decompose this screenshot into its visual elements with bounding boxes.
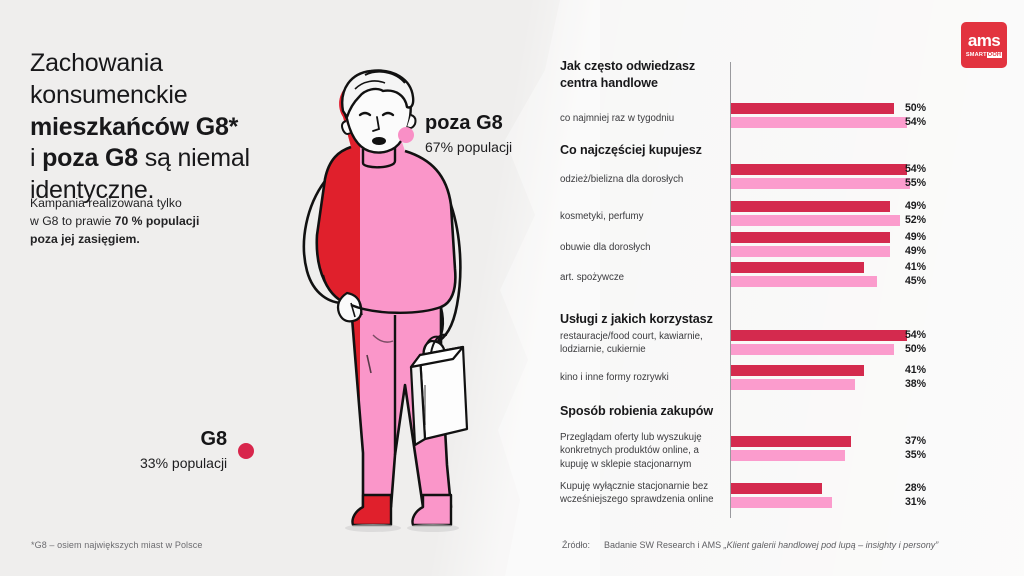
ams-logo[interactable]: ams SMARTOOH [961, 22, 1007, 68]
legend-g8-sub: 33% populacji [140, 453, 227, 474]
chart-value-poza-g8: 55% [905, 177, 926, 189]
chart-bar-poza-g8 [731, 178, 910, 189]
chart-bar-poza-g8 [731, 246, 890, 257]
chart-bar-g8 [731, 330, 907, 341]
chart-value-poza-g8: 50% [905, 343, 926, 355]
chart-row-label: co najmniej raz w tygodniu [560, 112, 726, 125]
chart-bar-g8 [731, 201, 890, 212]
chart-group-heading: Usługi z jakich korzystasz [560, 311, 728, 328]
source-note: Źródło:Badanie SW Research i AMS „Klient… [562, 540, 938, 550]
ams-logo-tagline: SMARTOOH [966, 52, 1002, 58]
chart-bar-poza-g8 [731, 344, 894, 355]
chart-value-poza-g8: 45% [905, 275, 926, 287]
subcopy: Kampania realizowana tylko w G8 to prawi… [30, 194, 250, 248]
chart-value-poza-g8: 35% [905, 449, 926, 461]
headline-line-4-prefix: i [30, 144, 42, 172]
chart-bar-poza-g8 [731, 215, 900, 226]
chart-bar-poza-g8 [731, 276, 877, 287]
headline-line-3: mieszkańców G8* [30, 113, 238, 141]
chart-value-g8: 41% [905, 364, 926, 376]
ams-logo-wordmark: ams [968, 32, 1000, 49]
chart-value-g8: 37% [905, 435, 926, 447]
chart-group-heading: Sposób robienia zakupów [560, 403, 728, 420]
chart-value-poza-g8: 52% [905, 214, 926, 226]
chart-group-heading: Co najczęściej kupujesz [560, 142, 728, 159]
chart-value-poza-g8: 38% [905, 378, 926, 390]
chart-value-g8: 28% [905, 482, 926, 494]
chart-bar-poza-g8 [731, 497, 832, 508]
chart-row-label: Kupuję wyłącznie stacjonarnie bez wcześn… [560, 480, 726, 507]
chart-bar-g8 [731, 164, 907, 175]
source-label: Źródło: [562, 540, 590, 550]
chart-bar-poza-g8 [731, 117, 907, 128]
chart-value-g8: 49% [905, 231, 926, 243]
legend-g8-title: G8 [200, 428, 227, 451]
source-title: „Klient galerii handlowej pod lupą – ins… [724, 540, 939, 550]
chart-bar-g8 [731, 365, 864, 376]
subcopy-line-2-prefix: w G8 to prawie [30, 214, 115, 228]
footnote-g8: *G8 – osiem największych miast w Polsce [31, 540, 202, 550]
chart-row-label: kino i inne formy rozrywki [560, 371, 726, 384]
logo-ooh-text: OOH [987, 52, 1002, 58]
headline-line-1: Zachowania [30, 49, 163, 77]
infographic-root: Zachowania konsumenckie mieszkańców G8* … [0, 0, 1024, 576]
chart-bar-g8 [731, 262, 864, 273]
chart-value-g8: 54% [905, 329, 926, 341]
chart-bar-g8 [731, 103, 894, 114]
legend-dot-g8 [238, 443, 254, 459]
chart-group-heading: Jak często odwiedzasz centra handlowe [560, 58, 728, 92]
chart-value-poza-g8: 54% [905, 116, 926, 128]
chart-value-g8: 50% [905, 102, 926, 114]
headline-line-4-emphasis: poza G8 [42, 144, 138, 172]
chart-value-g8: 49% [905, 200, 926, 212]
chart-bar-g8 [731, 232, 890, 243]
subcopy-line-1: Kampania realizowana tylko [30, 196, 182, 210]
chart-value-poza-g8: 49% [905, 245, 926, 257]
chart-bar-poza-g8 [731, 379, 855, 390]
chart-row-label: art. spożywcze [560, 271, 726, 284]
chart-value-poza-g8: 31% [905, 496, 926, 508]
chart-bar-g8 [731, 436, 851, 447]
bar-chart: Jak często odwiedzasz centra handloweco … [560, 55, 980, 525]
chart-value-g8: 54% [905, 163, 926, 175]
legend-dot-poza-g8 [398, 127, 414, 143]
logo-smart-text: SMART [966, 52, 987, 58]
chart-row-label: Przeglądam oferty lub wyszukuję konkretn… [560, 431, 726, 471]
chart-row-label: odzież/bielizna dla dorosłych [560, 173, 726, 186]
subcopy-emphasis-2: poza jej zasięgiem. [30, 232, 140, 246]
headline-line-4-suffix: są niemal [138, 144, 250, 172]
chart-row-label: obuwie dla dorosłych [560, 241, 726, 254]
subcopy-emphasis-1: 70 % populacji [115, 214, 200, 228]
source-text: Badanie SW Research i AMS [604, 540, 724, 550]
chart-row-label: restauracje/food court, kawiarnie, lodzi… [560, 330, 726, 357]
chart-row-label: kosmetyki, perfumy [560, 210, 726, 223]
headline-line-2: konsumenckie [30, 81, 187, 109]
legend-poza-g8-sub: 67% populacji [425, 137, 512, 158]
legend-poza-g8-title: poza G8 [425, 112, 512, 135]
chart-bar-g8 [731, 483, 822, 494]
chart-value-g8: 41% [905, 261, 926, 273]
legend-g8: G8 33% populacji [140, 428, 254, 474]
chart-bar-poza-g8 [731, 450, 845, 461]
legend-poza-g8: poza G8 67% populacji [398, 112, 512, 158]
